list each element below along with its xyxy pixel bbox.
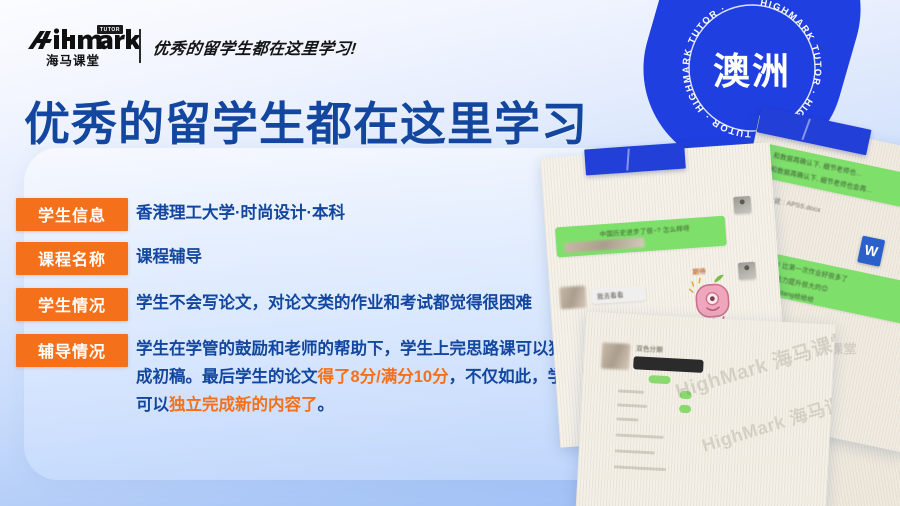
info-row-tutoring: 辅导情况 学生在学管的鼓励和老师的帮助下，学生上完思路课可以独立完成初稿。最后学… (16, 334, 128, 367)
info-row-situation: 学生情况 学生不会写论文，对论文类的作业和考试都觉得很困难 (16, 288, 128, 321)
avatar (738, 262, 756, 280)
row-tag-course-name: 课程名称 (16, 242, 128, 275)
text-segment: 。 (318, 396, 335, 414)
sticker-label: 期待 (692, 265, 706, 276)
status-chip (679, 405, 691, 414)
highlight-segment: 得了8分/满分10分 (318, 368, 449, 386)
highlight-segment: 独立完成新的内容了 (169, 396, 318, 414)
chat-title: 双色分類 (636, 342, 663, 353)
chat-text: 我去看看 (597, 289, 624, 301)
redacted-avatar (559, 286, 586, 310)
promo-banner: TUTOR 海马课堂 优秀的留学生都在这里学习! 优秀的留学生都在这里学习 HI… (0, 0, 900, 506)
row-value-tutoring-result: 学生在学管的鼓励和老师的帮助下，学生上完思路课可以独立完成初稿。最后学生的论文得… (136, 335, 606, 419)
row-tag-student-situation: 学生情况 (16, 288, 128, 321)
info-row-course: 课程名称 课程辅导 (16, 242, 128, 275)
status-chip (648, 375, 670, 384)
row-value-course-name: 课程辅导 (136, 243, 202, 271)
redacted-avatar (601, 343, 630, 370)
row-tag-student-info: 学生信息 (16, 198, 128, 231)
paper-sheet-front: 双色分類 HighMark 海马课堂 HighMark 海马课堂 (570, 312, 835, 506)
mascot-sticker (687, 272, 732, 323)
row-tag-tutoring-result: 辅导情况 (16, 334, 128, 367)
row-value-student-situation: 学生不会写论文，对论文类的作业和考试都觉得很困难 (136, 289, 532, 317)
paper-collage: 和数据再确认下, 细节老师也... 和数据再确认下, 细节老师也会再... 我跟… (540, 118, 900, 506)
row-value-student-info: 香港理工大学·时尚设计·本科 (136, 199, 345, 227)
info-row-student: 学生信息 香港理工大学·时尚设计·本科 (16, 198, 128, 231)
avatar (733, 196, 751, 214)
